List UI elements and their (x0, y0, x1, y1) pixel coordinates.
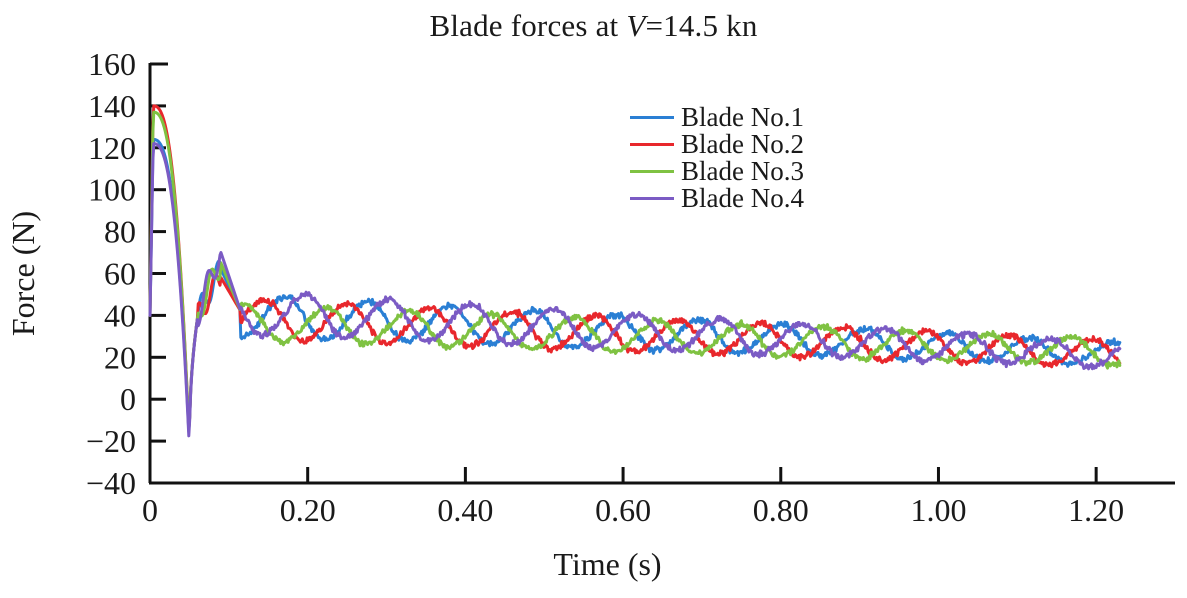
y-tick-label: −40 (86, 465, 136, 501)
legend-swatch-blade-4 (630, 197, 674, 200)
y-tick-label: 160 (88, 46, 136, 82)
legend-swatch-blade-1 (630, 116, 674, 119)
y-tick-label: 40 (104, 297, 136, 333)
y-tick-label: 120 (88, 130, 136, 166)
x-axis-title: Time (s) (553, 546, 661, 582)
legend-label-blade-2: Blade No.2 (681, 131, 804, 158)
legend-item: Blade No.1 (630, 104, 804, 131)
chart-root: Blade forces at V=14.5 kn −40−2002040608… (0, 0, 1187, 598)
legend: Blade No.1 Blade No.2 Blade No.3 Blade N… (630, 104, 804, 212)
y-tick-label: 0 (120, 381, 136, 417)
legend-label-blade-4: Blade No.4 (681, 185, 804, 212)
y-tick-label: 60 (104, 256, 136, 292)
legend-label-blade-1: Blade No.1 (681, 104, 804, 131)
legend-swatch-blade-2 (630, 143, 674, 146)
x-tick-label: 0.80 (753, 492, 809, 528)
legend-label-blade-3: Blade No.3 (681, 158, 804, 185)
y-tick-label: 80 (104, 214, 136, 250)
x-tick-label: 0.60 (595, 492, 651, 528)
y-axis-title: Force (N) (5, 211, 41, 336)
legend-item: Blade No.2 (630, 131, 804, 158)
x-tick-label: 0.20 (280, 492, 336, 528)
plot-canvas: −40−2002040608010012014016000.200.400.60… (0, 0, 1187, 598)
legend-item: Blade No.3 (630, 158, 804, 185)
y-tick-label: 140 (88, 88, 136, 124)
y-tick-label: −20 (86, 423, 136, 459)
plot-area: −40−2002040608010012014016000.200.400.60… (0, 0, 1187, 598)
x-tick-label: 0 (142, 492, 158, 528)
x-tick-label: 1.20 (1068, 492, 1124, 528)
legend-item: Blade No.4 (630, 185, 804, 212)
y-tick-label: 20 (104, 339, 136, 375)
x-tick-label: 1.00 (910, 492, 966, 528)
x-tick-label: 0.40 (437, 492, 493, 528)
legend-swatch-blade-3 (630, 170, 674, 173)
y-tick-label: 100 (88, 172, 136, 208)
